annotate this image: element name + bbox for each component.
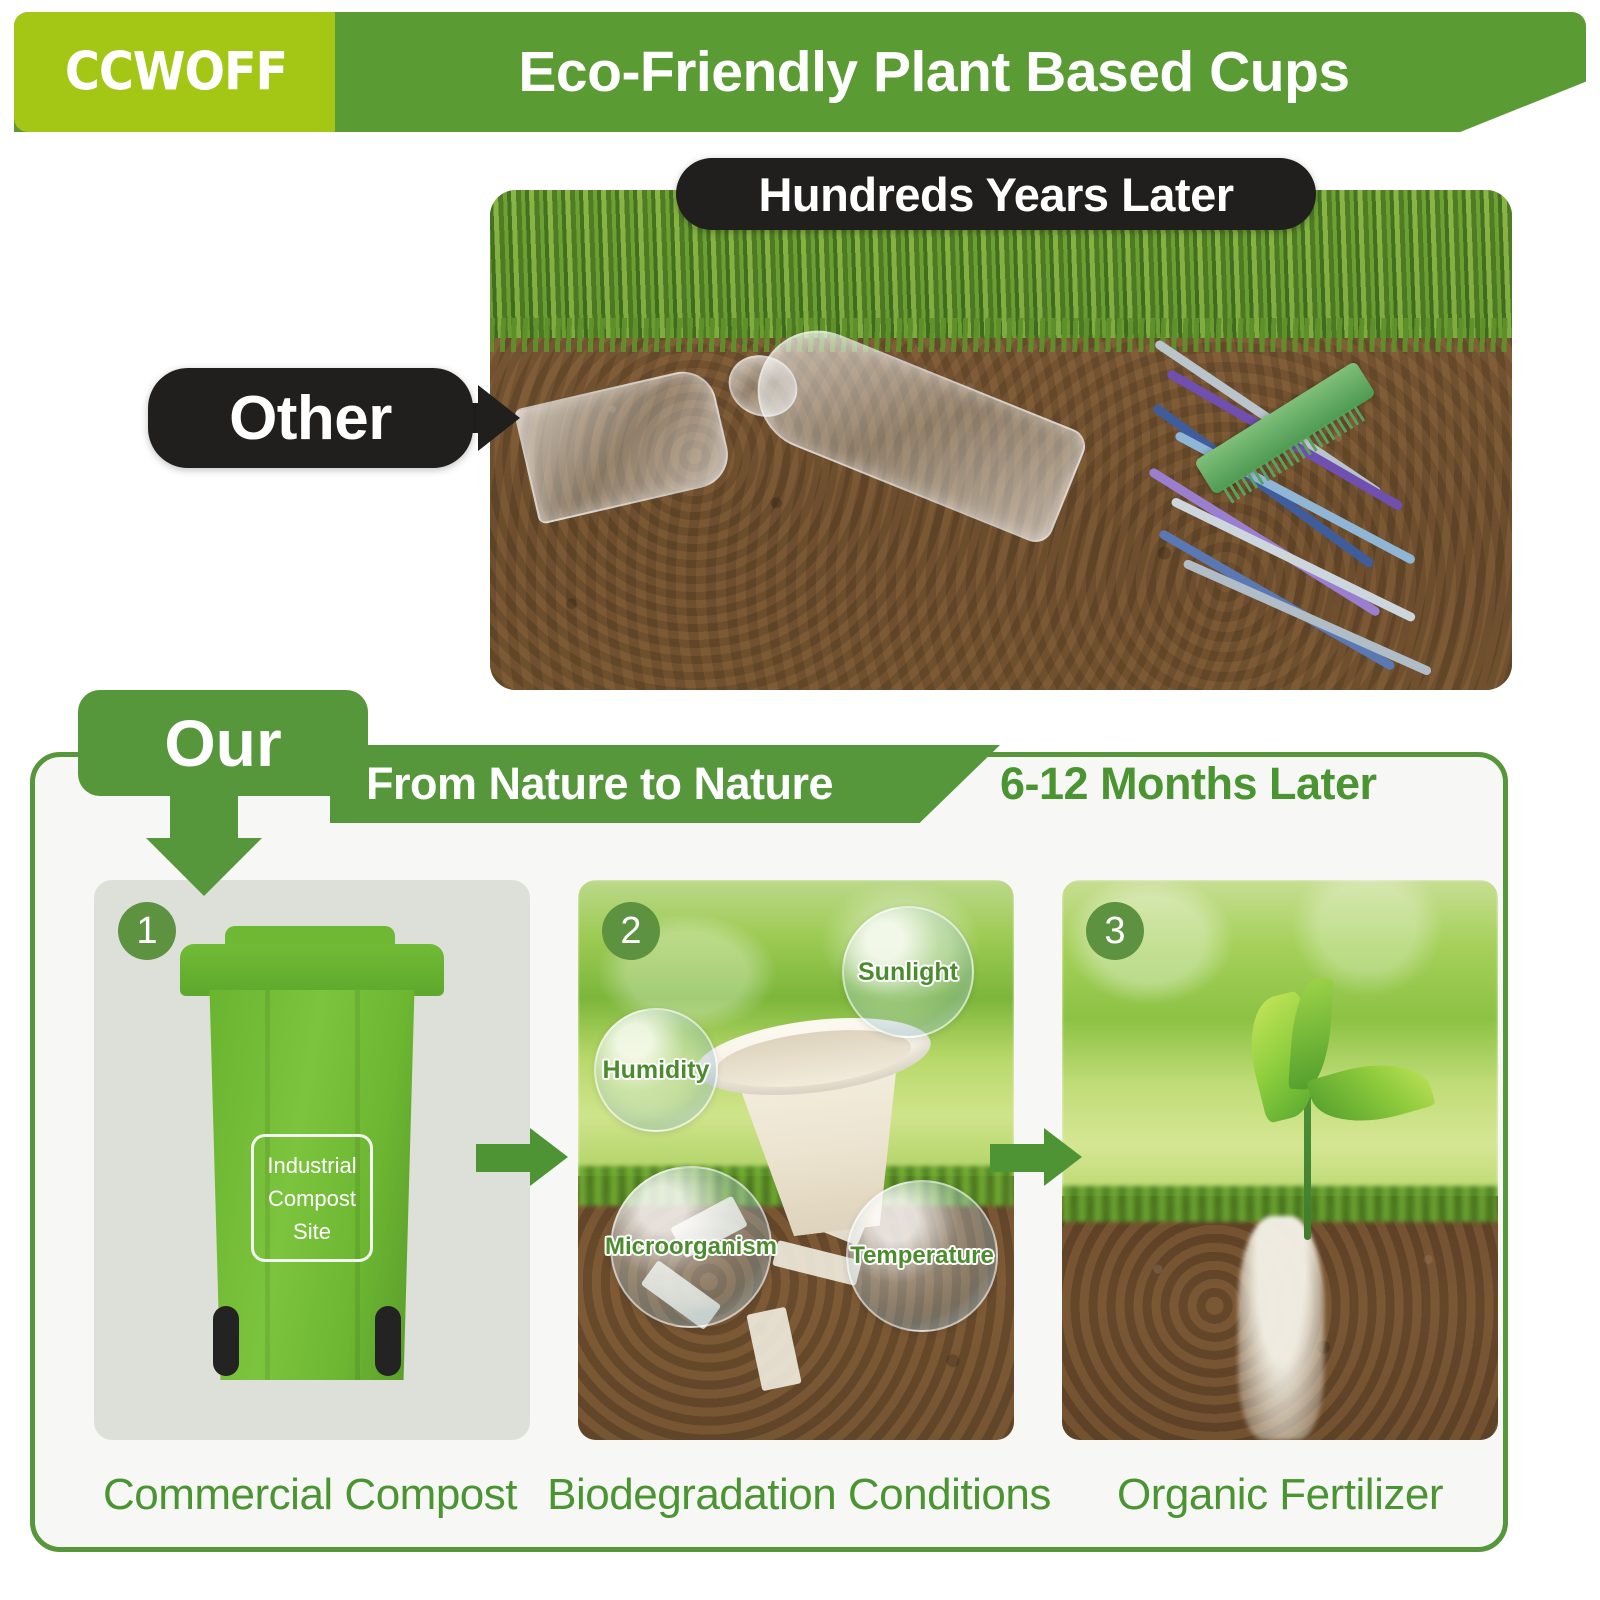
other-label-badge: Other bbox=[148, 368, 473, 468]
step-1-caption: Commercial Compost bbox=[60, 1460, 560, 1530]
seedling-illustration bbox=[1212, 972, 1412, 1232]
step-2-panel: Sunlight Humidity Microorganism Temperat… bbox=[578, 880, 1014, 1440]
step-2-caption: Biodegradation Conditions bbox=[534, 1460, 1064, 1530]
step-1-panel: 1 Industrial Compost Site bbox=[94, 880, 530, 1440]
humidity-bubble: Humidity bbox=[594, 1008, 718, 1132]
microorganism-label: Microorganism bbox=[605, 1233, 777, 1261]
humidity-label: Humidity bbox=[603, 1056, 710, 1085]
bin-lid bbox=[180, 944, 444, 996]
step-2-number-badge: 2 bbox=[602, 902, 660, 960]
bin-label-line-2: Compost bbox=[268, 1182, 356, 1215]
header-bar: CCWOFF Eco-Friendly Plant Based Cups bbox=[14, 12, 1586, 132]
sunlight-bubble: Sunlight bbox=[842, 906, 974, 1038]
from-nature-label: From Nature to Nature bbox=[366, 758, 833, 810]
step-arrow-2-icon bbox=[990, 1128, 1082, 1186]
step-1-number-badge: 1 bbox=[118, 902, 176, 960]
other-pointer-arrow-icon bbox=[478, 385, 520, 451]
months-later-label: 6-12 Months Later bbox=[1000, 758, 1377, 810]
our-label-badge: Our bbox=[78, 690, 368, 796]
step-3-number-badge: 3 bbox=[1086, 902, 1144, 960]
from-nature-banner: From Nature to Nature bbox=[330, 745, 1000, 823]
our-pointer-arrow-icon bbox=[146, 838, 262, 896]
brand-logo: CCWOFF bbox=[36, 42, 316, 103]
bin-wheel-right bbox=[375, 1306, 401, 1376]
fertilizer-granules bbox=[1238, 1216, 1324, 1440]
months-later-banner: 6-12 Months Later bbox=[1000, 745, 1500, 823]
infographic-root: CCWOFF Eco-Friendly Plant Based Cups Hun… bbox=[0, 0, 1600, 1600]
step-3-caption: Organic Fertilizer bbox=[1060, 1460, 1500, 1530]
microorganism-bubble: Microorganism bbox=[610, 1166, 772, 1328]
temperature-bubble: Temperature bbox=[846, 1180, 998, 1332]
bin-label-box: Industrial Compost Site bbox=[251, 1134, 373, 1262]
other-waste-photo bbox=[490, 190, 1512, 690]
page-title: Eco-Friendly Plant Based Cups bbox=[344, 39, 1524, 105]
step-3-panel: 3 bbox=[1062, 880, 1498, 1440]
bin-label-line-1: Industrial bbox=[267, 1149, 356, 1182]
sunlight-label: Sunlight bbox=[858, 958, 958, 987]
bin-wheel-left bbox=[213, 1306, 239, 1376]
compost-bin-illustration: Industrial Compost Site bbox=[177, 922, 447, 1422]
temperature-label: Temperature bbox=[850, 1242, 994, 1270]
hundreds-years-badge: Hundreds Years Later bbox=[676, 158, 1316, 230]
bin-label-line-3: Site bbox=[293, 1215, 331, 1248]
step-arrow-1-icon bbox=[476, 1128, 568, 1186]
